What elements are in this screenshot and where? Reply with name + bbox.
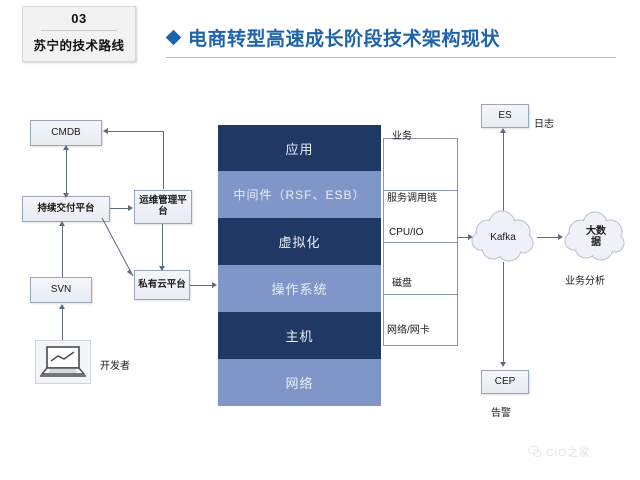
stack-layer-host[interactable]: 主机 (218, 312, 381, 359)
section-title: 苏宁的技术路线 (23, 35, 135, 54)
cloud-bigdata-label: 大数据 (583, 226, 609, 248)
section-number: 03 (23, 11, 135, 26)
metric-label-business: 业务 (392, 127, 412, 142)
metric-label-nic: 网络/网卡 (387, 321, 430, 336)
arrowhead-cloud-stack (212, 282, 217, 288)
connector-ops-cmdb-vert (163, 131, 164, 189)
stack-layer-virtualization[interactable]: 虚拟化 (218, 218, 381, 265)
laptop-icon (35, 340, 91, 384)
cep-caption: 告警 (491, 404, 511, 419)
connector-cd-cloud (100, 214, 140, 282)
watermark-text: CIO之家 (546, 444, 590, 460)
stack-layer-network-label: 网络 (285, 373, 313, 392)
connector-cloud-stack (190, 285, 212, 286)
stack-layer-os-label: 操作系统 (271, 279, 327, 298)
bigdata-caption: 业务分析 (565, 272, 605, 287)
technology-stack: 应用 中间件（RSF、ESB） 虚拟化 操作系统 主机 网络 (218, 125, 381, 406)
watermark: CIO之家 (528, 444, 590, 460)
box-es-label: ES (498, 110, 511, 122)
box-private-cloud[interactable]: 私有云平台 (134, 270, 190, 300)
connector-cd-ops (110, 208, 128, 209)
arrowhead-cd-cmdb-down (63, 193, 69, 198)
diamond-bullet-icon (166, 30, 182, 46)
wechat-icon (528, 445, 542, 459)
connector-ops-cmdb-horiz (108, 131, 164, 132)
connector-kafka-bigdata (537, 237, 559, 238)
box-cmdb[interactable]: CMDB (30, 120, 102, 146)
cloud-kafka[interactable]: Kafka (469, 208, 537, 266)
stack-layer-middleware[interactable]: 中间件（RSF、ESB） (218, 171, 381, 218)
slide-canvas: 03 苏宁的技术路线 电商转型高速成长阶段技术架构现状 CMDB 持续交付平台 … (0, 0, 640, 480)
arrowhead-cd-ops (128, 205, 133, 211)
section-badge: 03 苏宁的技术路线 (22, 6, 136, 62)
box-svn[interactable]: SVN (30, 277, 92, 303)
box-cep[interactable]: CEP (481, 370, 529, 394)
box-cd-platform-label: 持续交付平台 (37, 204, 94, 215)
connector-cd-cmdb (66, 148, 67, 194)
page-title: 电商转型高速成长阶段技术架构现状 (188, 24, 500, 51)
developer-label: 开发者 (100, 357, 130, 372)
box-ops-platform[interactable]: 运维管理平台 (134, 190, 192, 224)
es-caption: 日志 (534, 115, 554, 130)
box-cep-label: CEP (495, 376, 516, 388)
metric-label-disk: 磁盘 (392, 274, 412, 289)
stack-layer-os[interactable]: 操作系统 (218, 265, 381, 312)
title-underline (166, 57, 616, 58)
badge-divider (41, 30, 117, 31)
arrowhead-svn-cd (59, 221, 65, 226)
metric-label-trace: 服务调用链 (387, 189, 437, 204)
arrowhead-cd-cmdb-up (63, 145, 69, 150)
connector-svn-cd (62, 224, 63, 277)
connector-ops-cloud (162, 224, 163, 266)
box-es[interactable]: ES (481, 104, 529, 128)
arrowhead-dev-svn (59, 304, 65, 309)
connector-dev-svn (62, 308, 63, 340)
stack-layer-application[interactable]: 应用 (218, 125, 381, 171)
cloud-bigdata[interactable]: 大数据 (563, 209, 629, 265)
arrowhead-kafka-cep (500, 362, 506, 367)
metrics-grid-line-2 (383, 242, 458, 243)
cloud-kafka-label: Kafka (490, 232, 516, 243)
metric-label-cpuio: CPU/IO (389, 227, 423, 238)
stack-layer-application-label: 应用 (285, 139, 313, 158)
connector-kafka-es (503, 132, 504, 214)
arrowhead-ops-cloud (159, 266, 165, 271)
stack-layer-network[interactable]: 网络 (218, 359, 381, 406)
box-ops-platform-label: 运维管理平台 (135, 196, 191, 218)
box-svn-label: SVN (51, 284, 72, 296)
connector-kafka-cep (503, 262, 504, 362)
box-cmdb-label: CMDB (51, 127, 80, 139)
arrowhead-kafka-es (500, 128, 506, 133)
box-cd-platform[interactable]: 持续交付平台 (22, 196, 110, 222)
box-private-cloud-label: 私有云平台 (138, 280, 186, 291)
arrowhead-ops-cmdb (103, 128, 108, 134)
stack-layer-host-label: 主机 (285, 326, 313, 345)
stack-layer-virtualization-label: 虚拟化 (278, 232, 320, 251)
metrics-grid-line-3 (383, 294, 458, 295)
stack-layer-middleware-label: 中间件（RSF、ESB） (233, 186, 365, 203)
